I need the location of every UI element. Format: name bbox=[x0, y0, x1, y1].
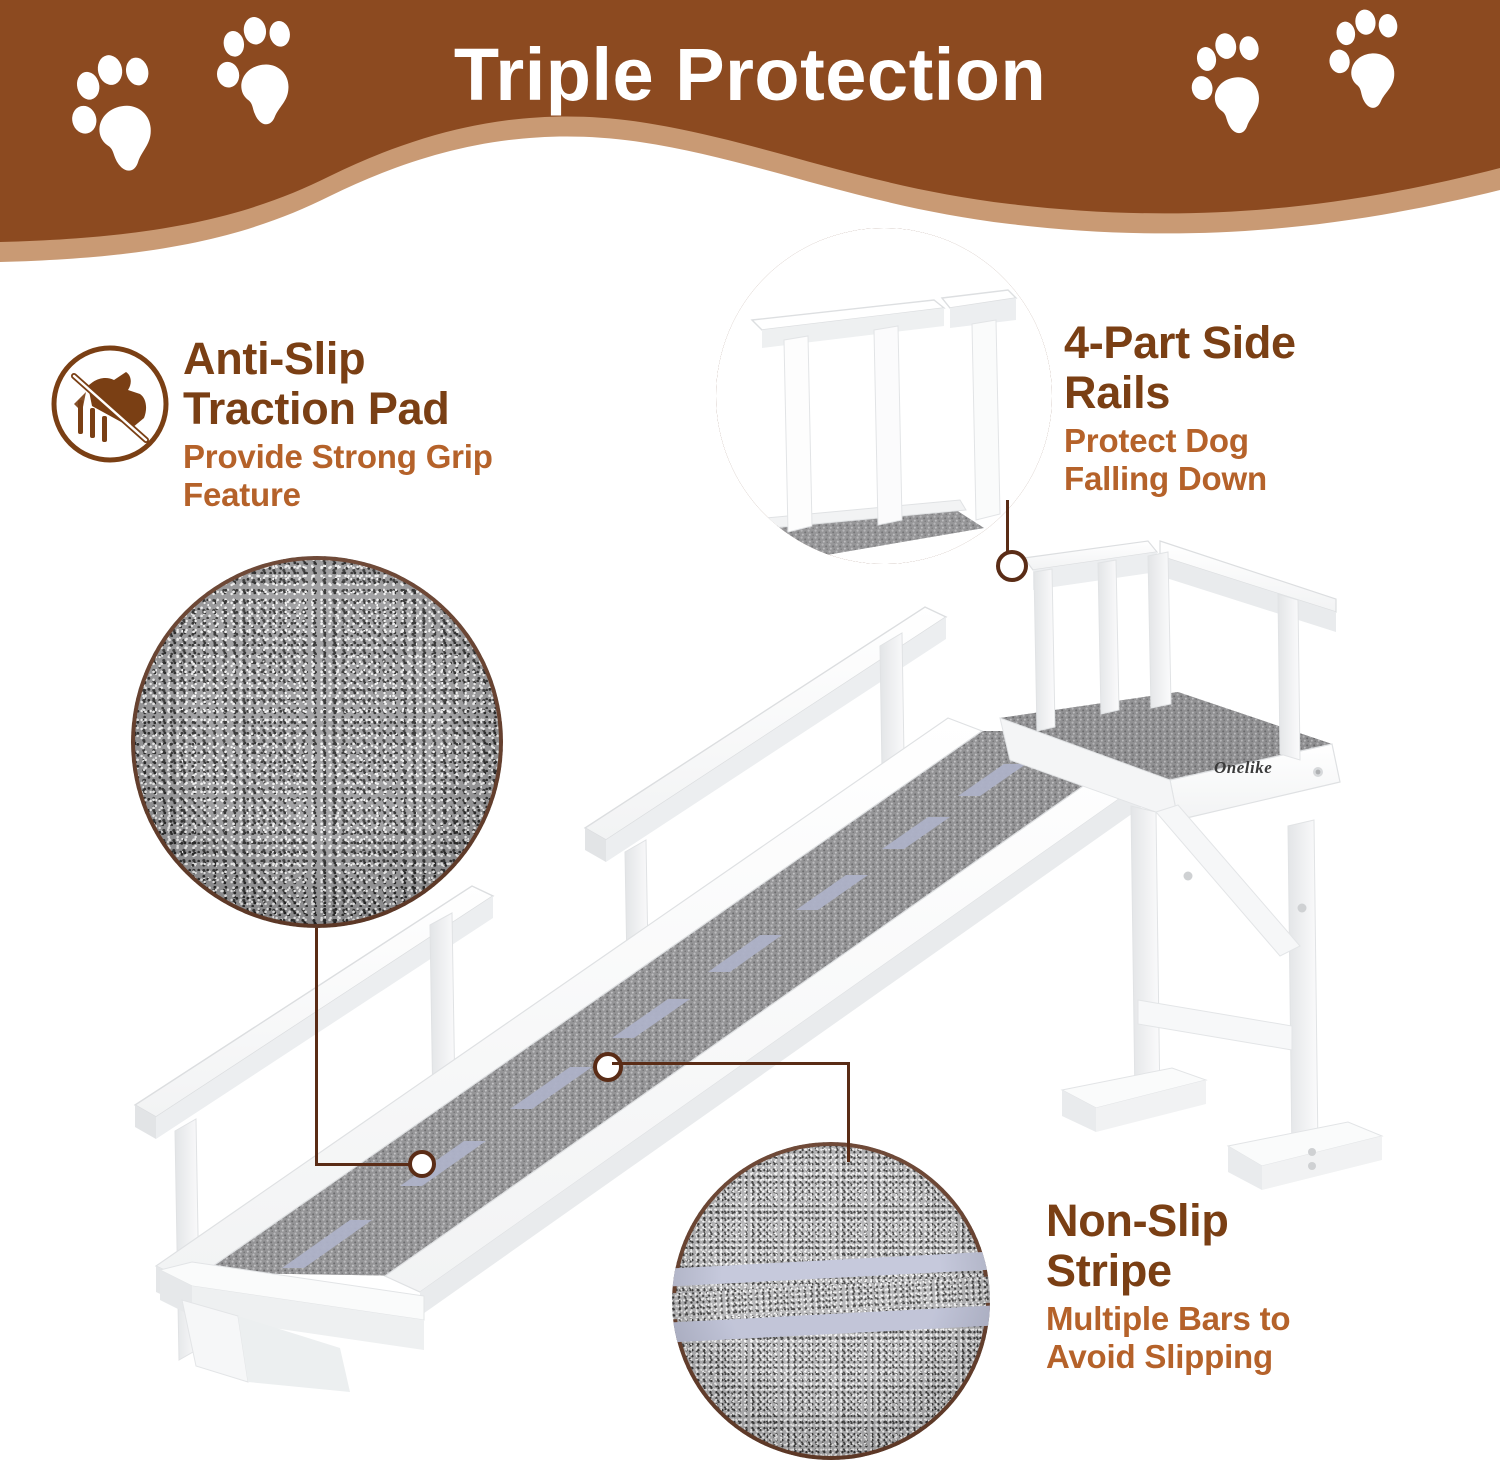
feature-subtitle-line-1: Multiple Bars to bbox=[1046, 1300, 1290, 1337]
callout-non-slip-stripe bbox=[672, 1142, 990, 1460]
feature-subtitle-line-2: Falling Down bbox=[1064, 460, 1267, 497]
leader-line-stripe-horizontal bbox=[612, 1062, 850, 1065]
leader-line-side-rails bbox=[1006, 500, 1009, 552]
feature-title-line-1: 4-Part Side bbox=[1064, 317, 1296, 368]
callout-side-rails bbox=[716, 228, 1052, 564]
leader-marker-stripe bbox=[593, 1052, 623, 1082]
callout-carpet-texture bbox=[131, 556, 503, 928]
anti-slip-shoe-icon bbox=[48, 342, 172, 466]
leader-line-carpet-vertical bbox=[315, 928, 318, 1166]
feature-non-slip-stripe: Non-Slip Stripe Multiple Bars to Avoid S… bbox=[1046, 1196, 1466, 1376]
brand-label: Onelike bbox=[1214, 758, 1272, 778]
feature-title-line-2: Stripe bbox=[1046, 1245, 1172, 1296]
feature-subtitle-line-1: Protect Dog bbox=[1064, 422, 1249, 459]
callout-shading bbox=[672, 1142, 990, 1460]
feature-anti-slip-traction-pad: Anti-Slip Traction Pad Provide Strong Gr… bbox=[183, 334, 603, 514]
feature-subtitle-line-1: Provide Strong Grip bbox=[183, 438, 493, 475]
feature-title-line-1: Anti-Slip bbox=[183, 333, 365, 384]
feature-title-line-2: Rails bbox=[1064, 367, 1170, 418]
leader-line-stripe-vertical bbox=[847, 1062, 850, 1162]
feature-title-line-2: Traction Pad bbox=[183, 383, 449, 434]
feature-subtitle-line-2: Feature bbox=[183, 476, 301, 513]
platform-legs bbox=[1062, 805, 1382, 1190]
side-rails-closeup-art bbox=[716, 228, 1052, 564]
feature-title-line-1: Non-Slip bbox=[1046, 1195, 1229, 1246]
callout-shading bbox=[131, 556, 503, 928]
feature-subtitle-line-2: Avoid Slipping bbox=[1046, 1338, 1273, 1375]
infographic-canvas: Triple Protection bbox=[0, 0, 1500, 1470]
leader-marker-side-rails bbox=[996, 550, 1028, 582]
leader-marker-carpet bbox=[408, 1150, 436, 1178]
feature-4-part-side-rails: 4-Part Side Rails Protect Dog Falling Do… bbox=[1064, 318, 1464, 498]
